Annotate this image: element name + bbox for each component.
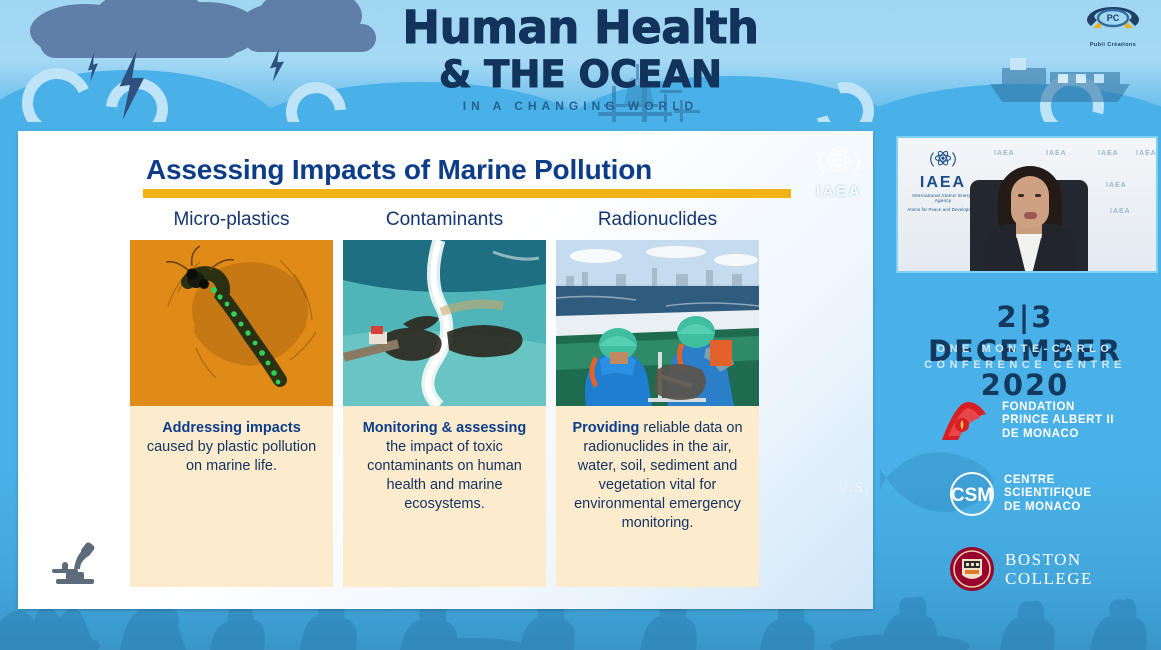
slide-columns: Micro-plastics (18, 209, 873, 609)
column-heading: Radionuclides (556, 209, 759, 231)
caption-bold: Addressing impacts (162, 420, 301, 436)
boston-college-logo: BOSTON COLLEGE (948, 545, 1093, 593)
svg-text:PC: PC (1107, 13, 1120, 23)
fondation-prince-albert-ii-logo: FONDATION PRINCE ALBERT II DE MONACO (938, 398, 1114, 444)
fpa2-mark-icon (938, 398, 994, 444)
column-heading: Micro-plastics (130, 209, 333, 231)
banner-title-line1: Human Health (0, 2, 1161, 54)
backdrop-tile-logo: IAEA (1106, 182, 1127, 189)
presentation-slide[interactable]: Assessing Impacts of Marine Pollution (18, 131, 873, 609)
fpa2-text: FONDATION PRINCE ALBERT II DE MONACO (1002, 401, 1114, 442)
column-heading: Contaminants (343, 209, 546, 231)
caption-bold: Monitoring & assessing (363, 420, 527, 436)
event-venue: ONE MONTE-CARLO CONFERENCE CENTRE (896, 341, 1154, 373)
backdrop-tile-logo: IAEA (1046, 150, 1067, 157)
bc-text: BOSTON COLLEGE (1005, 550, 1093, 588)
backdrop-tile-logo: IAEA (994, 150, 1015, 157)
column-contaminants: Contaminants (343, 209, 546, 587)
banner-subtitle: IN A CHANGING WORLD (0, 99, 1161, 113)
speaker-face (1011, 176, 1049, 228)
publi-creations-logo: PC Publi Créations (1077, 4, 1149, 50)
presentation-stage: Human Health & THE OCEAN IN A CHANGING W… (0, 0, 1161, 650)
caption-text: caused by plastic pollution on marine li… (147, 439, 316, 474)
csm-text: CENTRE SCIENTIFIQUE DE MONACO (1004, 474, 1092, 515)
banner-title: Human Health & THE OCEAN IN A CHANGING W… (0, 2, 1161, 113)
title-underline-bar (143, 189, 791, 198)
centre-scientifique-de-monaco-logo: CSM CENTRE SCIENTIFIQUE DE MONACO (946, 470, 1092, 518)
publi-creations-caption: Publi Créations (1077, 42, 1149, 48)
iaea-atom-icon (812, 143, 866, 183)
backdrop-atom-icon (926, 146, 960, 174)
pc-logo-icon: PC (1077, 4, 1149, 36)
iaea-wordmark: IAEA (793, 183, 873, 200)
column-caption: Addressing impacts caused by plastic pol… (130, 406, 333, 587)
backdrop-iaea-logo: IAEA International Atomic Energy Agency … (906, 146, 980, 212)
backdrop-iaea-sub1: International Atomic Energy Agency (906, 193, 980, 203)
backdrop-tile-logo: IAEA (1110, 208, 1131, 215)
oil-spill-aerial-photo (343, 240, 546, 406)
column-caption: Monitoring & assessing the impact of tox… (343, 406, 546, 587)
microscope-icon (46, 539, 106, 587)
microplastics-larva-photo (130, 240, 333, 406)
slide-header: Assessing Impacts of Marine Pollution (18, 131, 873, 199)
column-micro-plastics: Micro-plastics (130, 209, 333, 587)
svg-text:CSM: CSM (951, 485, 993, 506)
backdrop-iaea-sub2: Atoms for Peace and Development (906, 207, 980, 212)
column-radionuclides: Radionuclides (556, 209, 759, 587)
iaea-logo: IAEA (793, 143, 873, 205)
backdrop-tile-logo: IAEA (1136, 150, 1157, 157)
watermark-text: V.S. (838, 480, 871, 497)
backdrop-tile-logo: IAEA (1098, 150, 1119, 157)
column-caption: Providing reliable data on radionuclides… (556, 406, 759, 587)
speaker-video-feed[interactable]: IAEA International Atomic Energy Agency … (896, 136, 1158, 273)
banner-title-line2: & THE OCEAN (0, 54, 1161, 96)
caption-bold: Providing (572, 420, 639, 436)
venue-line1: ONE MONTE-CARLO (896, 341, 1154, 357)
slide-title: Assessing Impacts of Marine Pollution (146, 154, 652, 186)
bc-seal-icon (948, 545, 996, 593)
caption-text: the impact of toxic contaminants on huma… (367, 439, 522, 512)
backdrop-iaea-wordmark: IAEA (906, 174, 980, 192)
csm-mark-icon: CSM (946, 470, 998, 518)
caption-text: reliable data on radionuclides in the ai… (574, 420, 742, 531)
venue-line2: CONFERENCE CENTRE (896, 357, 1154, 373)
field-sampling-crew-photo (556, 240, 759, 406)
